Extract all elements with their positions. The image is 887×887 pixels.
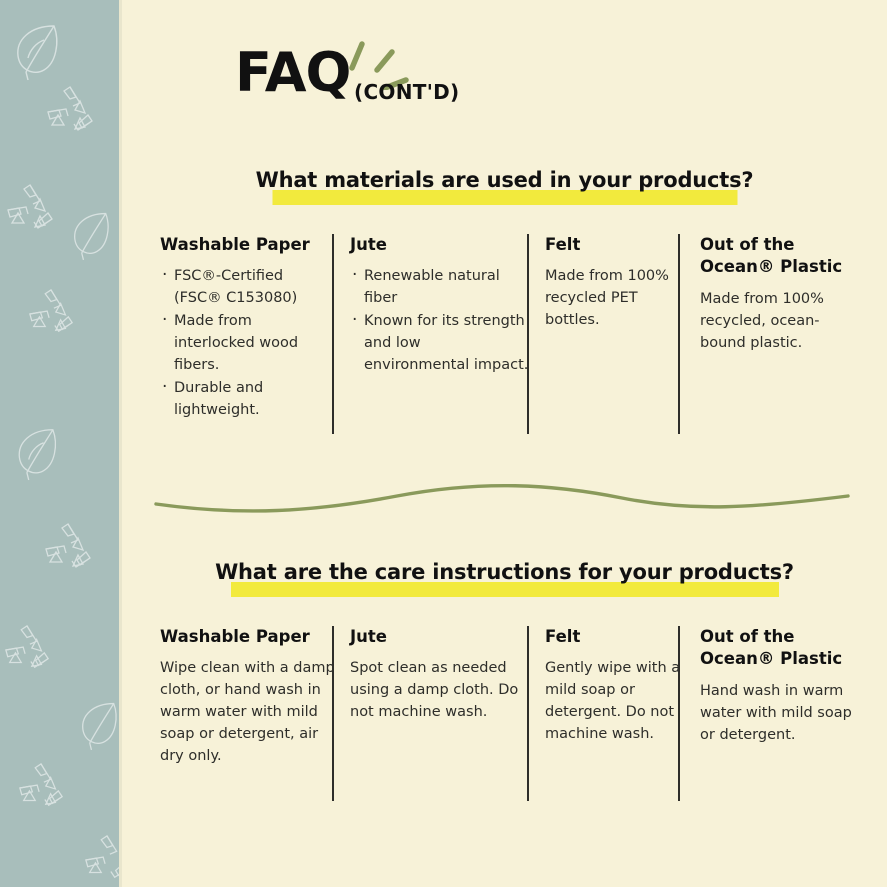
column-heading: Out of the Ocean® Plastic <box>700 234 865 279</box>
column-text: Hand wash in warm water with mild soap o… <box>700 680 865 746</box>
column-text: Made from 100% recycled PET bottles. <box>545 265 685 331</box>
wavy-divider <box>152 478 852 522</box>
leaf-icon <box>10 20 66 82</box>
question-text: What materials are used in your products… <box>256 168 754 192</box>
list-item: Known for its strength and low environme… <box>364 310 530 376</box>
column-text: Spot clean as needed using a damp cloth.… <box>350 657 530 723</box>
column-heading: Jute <box>350 626 530 648</box>
column-heading: Washable Paper <box>160 234 335 256</box>
material-column-ocean-plastic: Out of the Ocean® Plastic Made from 100%… <box>700 234 865 354</box>
care-columns: Washable Paper Wipe clean with a damp cl… <box>122 626 887 841</box>
recycle-icon <box>2 624 52 674</box>
column-text: Wipe clean with a damp cloth, or hand wa… <box>160 657 335 767</box>
decorative-sidebar <box>0 0 119 887</box>
column-heading: Washable Paper <box>160 626 335 648</box>
section-care: What are the care instructions for your … <box>122 560 887 841</box>
column-text: Gently wipe with a mild soap or detergen… <box>545 657 685 745</box>
column-text: Made from 100% recycled, ocean-bound pla… <box>700 288 865 354</box>
material-column-jute: Jute Renewable natural fiber Known for i… <box>350 234 530 377</box>
column-heading: Jute <box>350 234 530 256</box>
question-heading-care: What are the care instructions for your … <box>122 560 887 604</box>
recycle-icon <box>16 762 66 812</box>
material-column-washable-paper: Washable Paper FSC®-Certified (FSC® C153… <box>160 234 335 422</box>
main-content: FAQ (CONT'D) What materials are used in … <box>122 0 887 887</box>
page-title: FAQ <box>235 46 350 100</box>
column-heading: Felt <box>545 234 685 256</box>
care-column-felt: Felt Gently wipe with a mild soap or det… <box>545 626 685 745</box>
list-item: Renewable natural fiber <box>364 265 530 309</box>
leaf-icon <box>76 698 119 752</box>
column-list: FSC®-Certified (FSC® C153080) Made from … <box>160 265 335 421</box>
leaf-icon <box>12 424 64 482</box>
list-item: FSC®-Certified (FSC® C153080) <box>174 265 335 309</box>
section-materials: What materials are used in your products… <box>122 168 887 449</box>
leaf-icon <box>68 208 116 262</box>
materials-columns: Washable Paper FSC®-Certified (FSC® C153… <box>122 234 887 449</box>
care-column-washable-paper: Washable Paper Wipe clean with a damp cl… <box>160 626 335 767</box>
recycle-icon <box>44 85 96 137</box>
question-highlight <box>272 190 737 205</box>
care-column-jute: Jute Spot clean as needed using a damp c… <box>350 626 530 723</box>
care-column-ocean-plastic: Out of the Ocean® Plastic Hand wash in w… <box>700 626 865 746</box>
column-list: Renewable natural fiber Known for its st… <box>350 265 530 376</box>
question-heading-materials: What materials are used in your products… <box>122 168 887 212</box>
recycle-icon <box>4 183 56 235</box>
page-subtitle: (CONT'D) <box>354 80 459 104</box>
page-header: FAQ (CONT'D) <box>122 30 887 120</box>
column-heading: Out of the Ocean® Plastic <box>700 626 865 671</box>
material-column-felt: Felt Made from 100% recycled PET bottles… <box>545 234 685 331</box>
recycle-icon <box>82 834 119 884</box>
column-heading: Felt <box>545 626 685 648</box>
list-item: Durable and lightweight. <box>174 377 335 421</box>
question-text: What are the care instructions for your … <box>215 560 794 584</box>
list-item: Made from interlocked wood fibers. <box>174 310 335 376</box>
question-highlight <box>231 582 779 597</box>
recycle-icon <box>26 288 76 338</box>
recycle-icon <box>42 522 94 574</box>
